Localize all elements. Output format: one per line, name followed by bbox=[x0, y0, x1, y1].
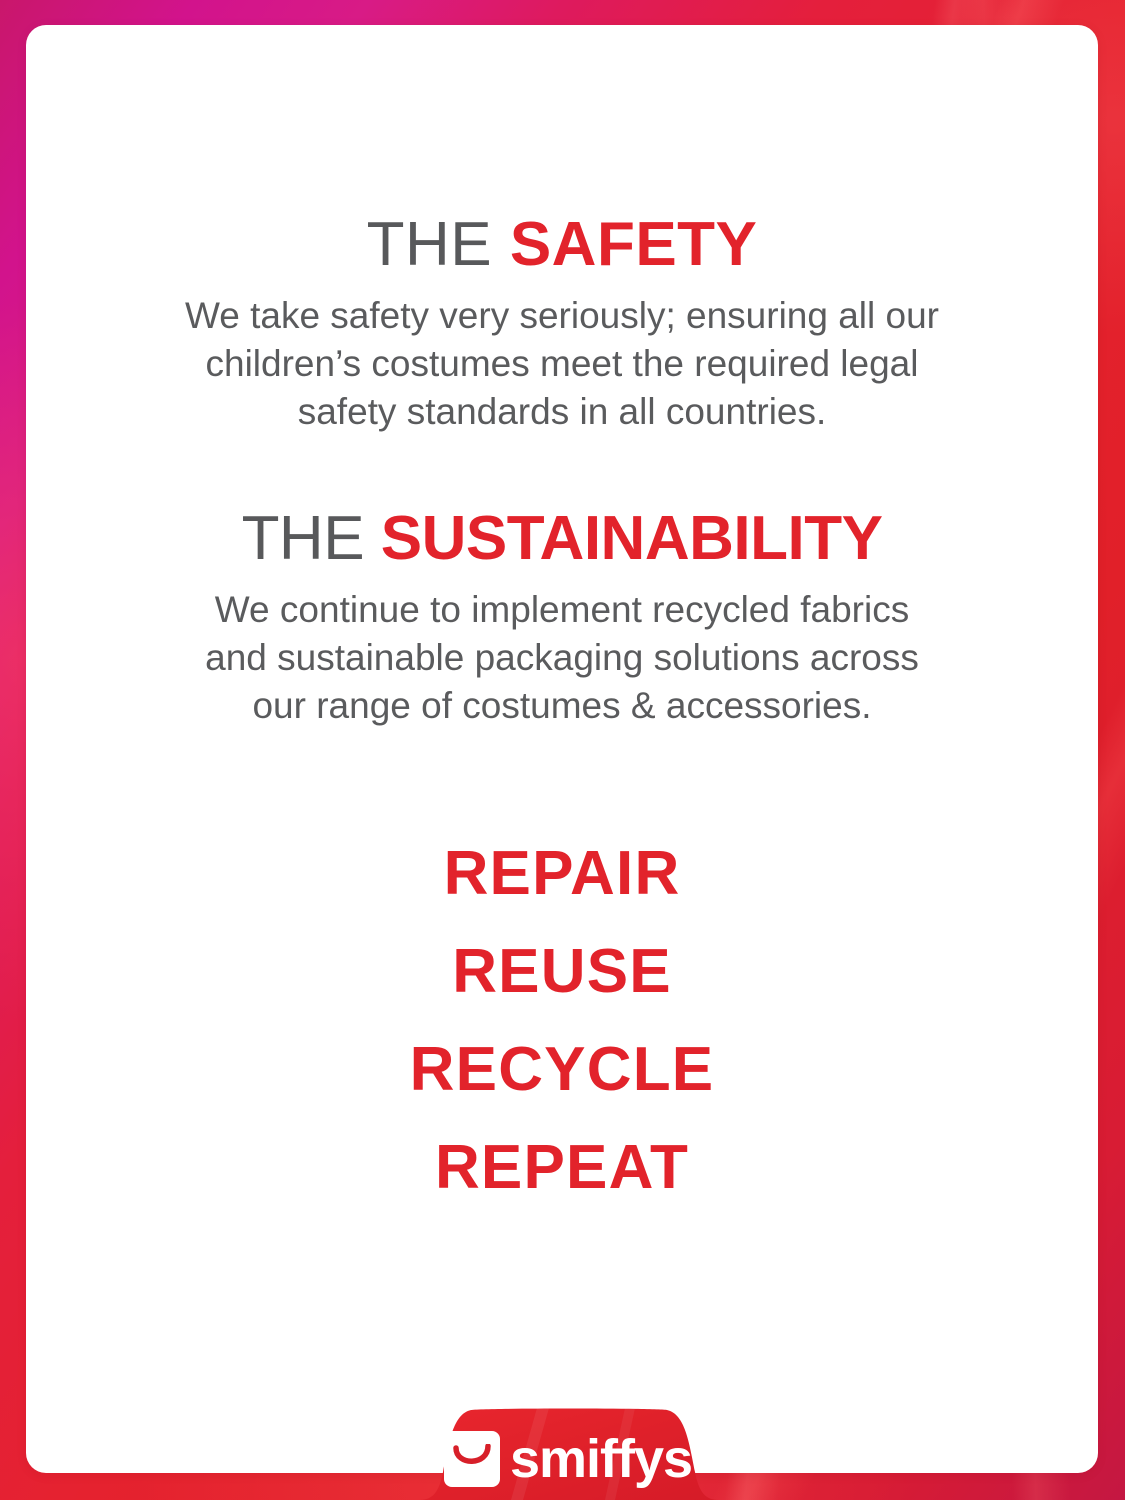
logo-wordmark-text: smiffys bbox=[510, 1429, 692, 1489]
heading-safety-prefix: THE bbox=[367, 210, 510, 279]
heading-sustainability-prefix: THE bbox=[242, 504, 381, 573]
section-sustainability: THE SUSTAINABILITY We continue to implem… bbox=[26, 506, 1098, 730]
body-safety-line-3: safety standards in all countries. bbox=[142, 388, 982, 436]
smiffys-logo-banner: smiffysTM bbox=[419, 1400, 719, 1500]
r-words-list: REPAIR REUSE RECYCLE REPEAT bbox=[26, 825, 1098, 1217]
r-word-reuse: REUSE bbox=[26, 923, 1098, 1021]
content-card: THE SAFETY We take safety very seriously… bbox=[26, 25, 1098, 1473]
heading-sustainability-emphasis: SUSTAINABILITY bbox=[381, 504, 883, 573]
r-word-repair: REPAIR bbox=[26, 825, 1098, 923]
body-safety-line-2: children’s costumes meet the required le… bbox=[142, 340, 982, 388]
body-sustainability-line-1: We continue to implement recycled fabric… bbox=[142, 586, 982, 634]
r-word-recycle: RECYCLE bbox=[26, 1021, 1098, 1119]
logo-wordmark: smiffysTM bbox=[510, 1432, 694, 1486]
logo-content: smiffysTM bbox=[419, 1400, 719, 1500]
trademark-symbol: TM bbox=[694, 1428, 716, 1443]
body-safety: We take safety very seriously; ensuring … bbox=[142, 292, 982, 436]
r-word-repeat: REPEAT bbox=[26, 1119, 1098, 1217]
body-sustainability: We continue to implement recycled fabric… bbox=[142, 586, 982, 730]
body-sustainability-line-2: and sustainable packaging solutions acro… bbox=[142, 634, 982, 682]
heading-safety-emphasis: SAFETY bbox=[510, 210, 758, 279]
section-safety: THE SAFETY We take safety very seriously… bbox=[26, 212, 1098, 436]
heading-sustainability: THE SUSTAINABILITY bbox=[26, 506, 1098, 572]
body-safety-line-1: We take safety very seriously; ensuring … bbox=[142, 292, 982, 340]
poster-root: THE SAFETY We take safety very seriously… bbox=[0, 0, 1125, 1500]
card-inner: THE SAFETY We take safety very seriously… bbox=[26, 25, 1098, 1473]
heading-safety: THE SAFETY bbox=[26, 212, 1098, 278]
body-sustainability-line-3: our range of costumes & accessories. bbox=[142, 682, 982, 730]
smile-icon bbox=[444, 1431, 500, 1487]
